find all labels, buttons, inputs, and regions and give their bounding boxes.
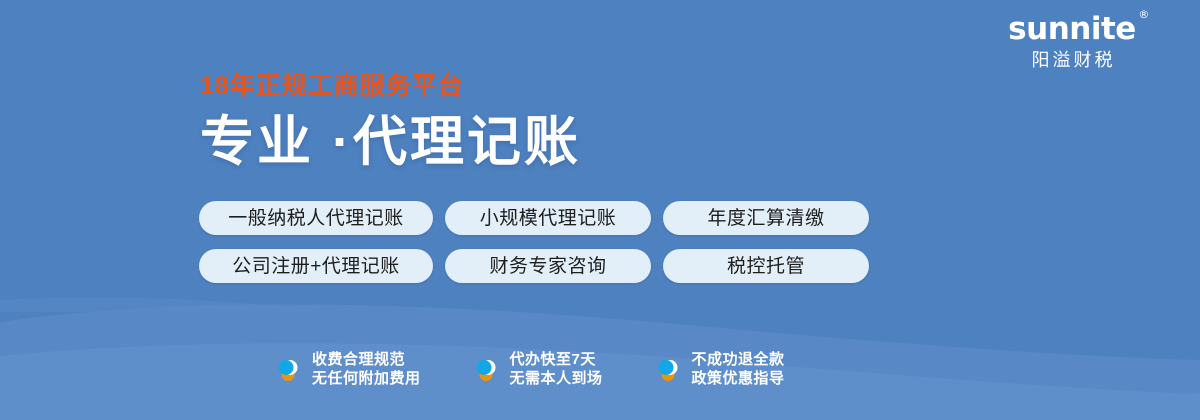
service-pill[interactable]: 小规模代理记账 <box>445 201 651 235</box>
service-pill-label: 年度汇算清缴 <box>707 209 824 228</box>
service-pill[interactable]: 年度汇算清缴 <box>663 201 869 235</box>
circle-crescent-icon <box>275 353 301 385</box>
service-pill[interactable]: 一般纳税人代理记账 <box>199 201 433 235</box>
circle-crescent-icon <box>473 353 499 385</box>
service-pill-label: 税控托管 <box>727 257 805 276</box>
feature-item: 代办快至7天 无需本人到场 <box>473 350 603 388</box>
service-pill-label: 一般纳税人代理记账 <box>228 209 404 228</box>
service-pill[interactable]: 公司注册+代理记账 <box>199 249 433 283</box>
service-pill[interactable]: 财务专家咨询 <box>445 249 651 283</box>
feature-text: 收费合理规范 无任何附加费用 <box>312 350 421 388</box>
brand-logo: sunnite ® 阳溢财税 <box>972 12 1172 70</box>
promo-banner: sunnite ® 阳溢财税 18年正规工商服务平台 专业 ·代理记账 一般纳税… <box>0 0 1200 420</box>
logo-wordmark-label: sunnite <box>1008 11 1136 47</box>
feature-line-1: 代办快至7天 <box>510 350 603 369</box>
service-pill-label: 公司注册+代理记账 <box>232 257 400 276</box>
service-pill-grid: 一般纳税人代理记账 小规模代理记账 年度汇算清缴 公司注册+代理记账 财务专家咨… <box>199 201 869 283</box>
service-pill-label: 财务专家咨询 <box>489 257 606 276</box>
service-pill[interactable]: 税控托管 <box>663 249 869 283</box>
feature-text: 代办快至7天 无需本人到场 <box>510 350 603 388</box>
logo-subtitle: 阳溢财税 <box>972 50 1172 70</box>
feature-line-1: 收费合理规范 <box>312 350 421 369</box>
feature-item: 收费合理规范 无任何附加费用 <box>275 350 421 388</box>
registered-trademark-icon: ® <box>1138 9 1149 20</box>
circle-crescent-icon <box>655 353 681 385</box>
feature-strip: 收费合理规范 无任何附加费用 代办快至7天 无需本人到场 <box>275 350 785 388</box>
feature-line-2: 政策优惠指导 <box>692 369 785 388</box>
page-title: 专业 ·代理记账 <box>200 112 581 172</box>
headline-group: 18年正规工商服务平台 专业 ·代理记账 <box>200 72 581 172</box>
tagline-text: 18年正规工商服务平台 <box>200 72 581 100</box>
feature-line-2: 无需本人到场 <box>510 369 603 388</box>
feature-line-1: 不成功退全款 <box>692 350 785 369</box>
service-pill-label: 小规模代理记账 <box>480 209 617 228</box>
logo-wordmark-text: sunnite ® <box>1008 12 1136 46</box>
feature-text: 不成功退全款 政策优惠指导 <box>692 350 785 388</box>
feature-item: 不成功退全款 政策优惠指导 <box>655 350 785 388</box>
feature-line-2: 无任何附加费用 <box>312 369 421 388</box>
